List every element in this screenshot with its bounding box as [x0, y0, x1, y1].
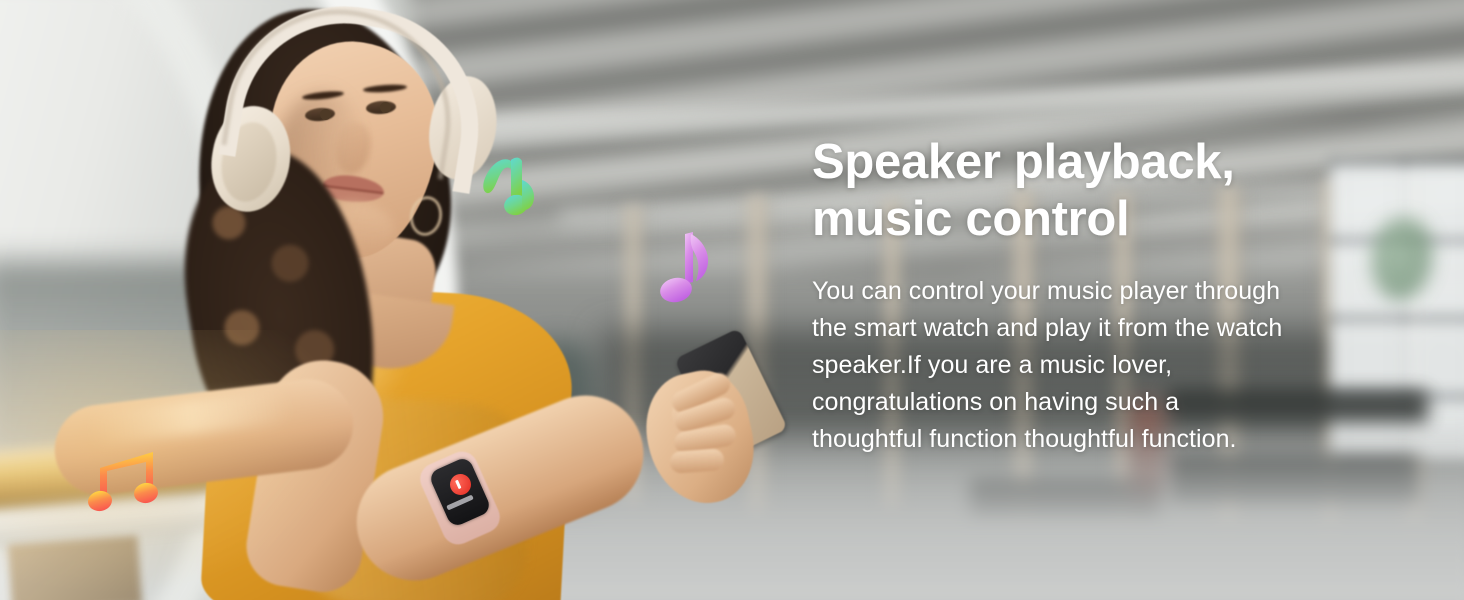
music-note-purple-icon	[655, 228, 721, 310]
headline-line-1: Speaker playback,	[812, 135, 1235, 189]
finger	[669, 448, 724, 474]
music-note-orange-icon	[88, 446, 174, 518]
body-line: You can control your music player throug…	[812, 273, 1357, 310]
body-line: speaker.If you are a music lover,	[812, 347, 1357, 384]
body-line: thoughtful function thoughtful function.	[812, 421, 1357, 458]
copy-block: Speaker playback,music control You can c…	[812, 134, 1372, 458]
headline: Speaker playback,music control	[812, 134, 1372, 248]
body-line: the smart watch and play it from the wat…	[812, 310, 1357, 347]
music-note-green-icon	[478, 152, 550, 232]
body-paragraph: You can control your music player throug…	[812, 273, 1357, 458]
promo-banner: Speaker playback,music control You can c…	[0, 0, 1464, 600]
foreground-box	[8, 536, 143, 600]
woman-subject	[150, 0, 590, 600]
body-line: congratulations on having such a	[812, 384, 1357, 421]
headline-line-2: music control	[812, 191, 1372, 248]
